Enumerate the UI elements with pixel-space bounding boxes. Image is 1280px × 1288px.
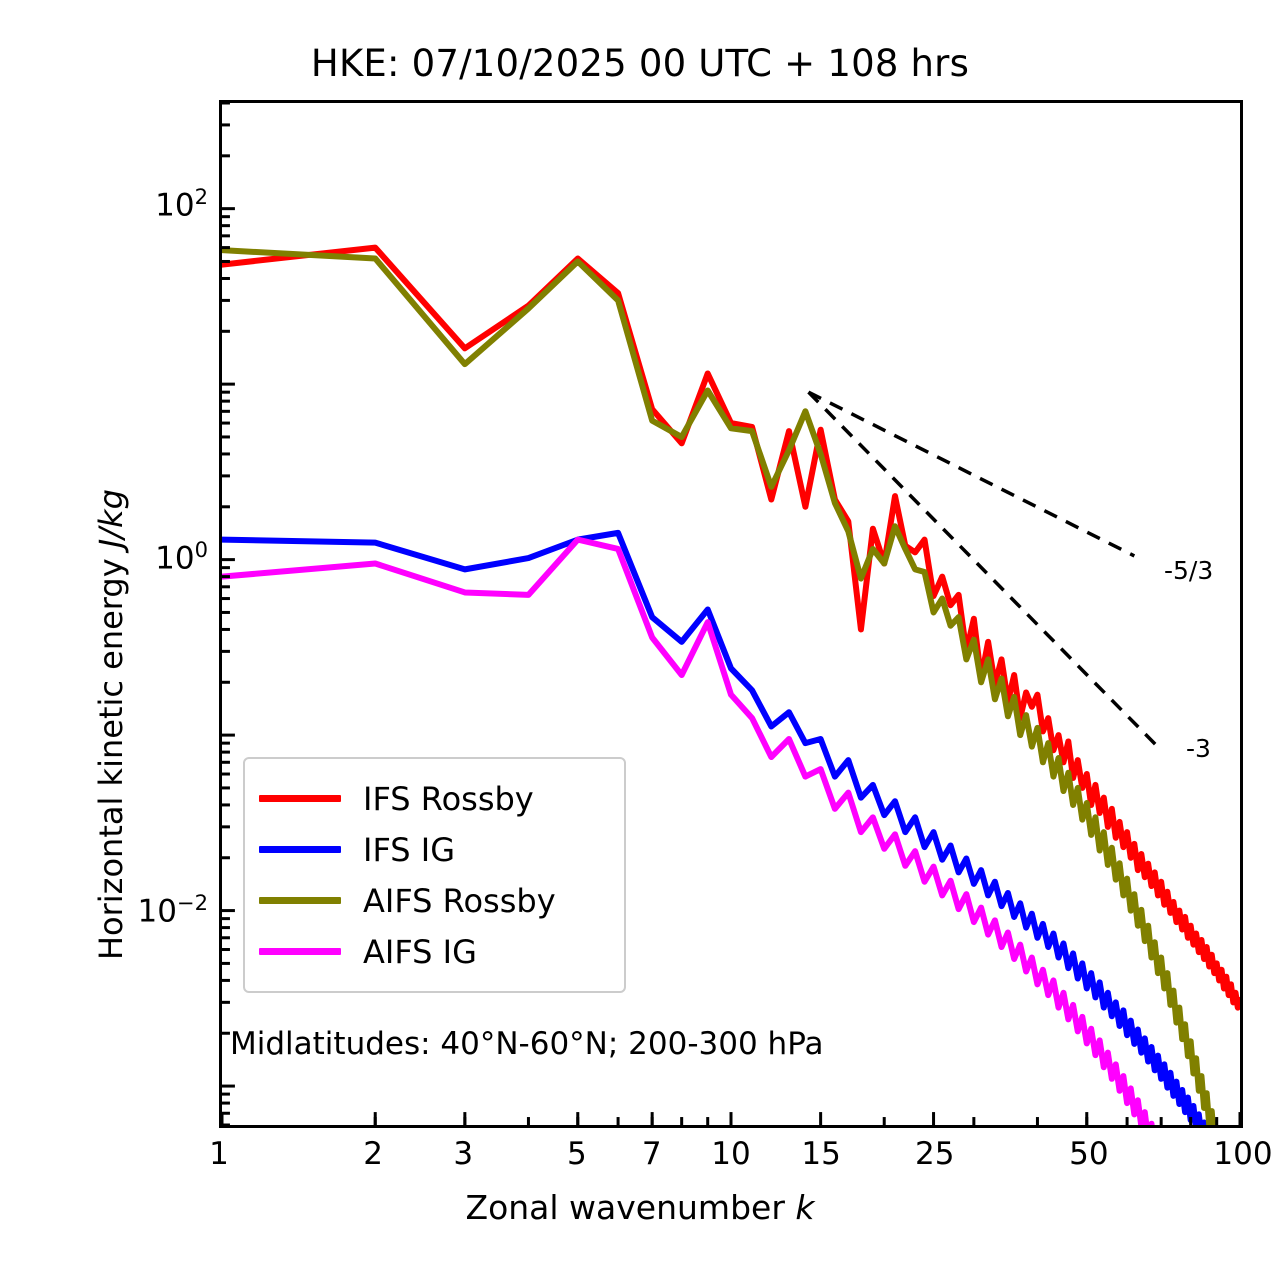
x-tick-label-2: 2 <box>363 1136 383 1172</box>
x-axis-title-main: Zonal wavenumber <box>465 1188 795 1227</box>
legend-swatch-ifs-ig <box>259 846 341 853</box>
x-axis-ticks: 1235710152550100 <box>0 1136 1280 1196</box>
x-tick-label-3: 3 <box>453 1136 473 1172</box>
chart-root: HKE: 07/10/2025 00 UTC + 108 hrs 1021001… <box>0 0 1280 1288</box>
legend-label-ifs-rossby: IFS Rossby <box>363 783 534 815</box>
x-tick-label-5: 5 <box>567 1136 587 1172</box>
x-axis-title: Zonal wavenumber k <box>0 1188 1280 1227</box>
y-tick-label-2: 10−2 <box>98 890 208 929</box>
y-tick-label-0: 102 <box>98 184 208 223</box>
x-tick-label-25: 25 <box>915 1136 954 1172</box>
legend-item-aifs-ig[interactable]: AIFS IG <box>259 926 608 977</box>
legend-item-ifs-rossby[interactable]: IFS Rossby <box>259 773 608 824</box>
x-tick-label-7: 7 <box>642 1136 662 1172</box>
legend-label-aifs-ig: AIFS IG <box>363 936 477 968</box>
x-tick-label-1: 1 <box>209 1136 229 1172</box>
legend-item-ifs-ig[interactable]: IFS IG <box>259 824 608 875</box>
y-axis-ticks: 10210010−2 <box>80 0 208 1288</box>
legend-swatch-aifs-rossby <box>259 897 341 904</box>
legend-swatch-ifs-rossby <box>259 795 341 802</box>
x-tick-label-15: 15 <box>801 1136 840 1172</box>
slope-label--5-3: -5/3 <box>1164 556 1213 585</box>
x-axis-title-symbol: k <box>795 1188 814 1227</box>
legend-label-ifs-ig: IFS IG <box>363 834 455 866</box>
legend-item-aifs-rossby[interactable]: AIFS Rossby <box>259 875 608 926</box>
y-tick-label-1: 100 <box>98 537 208 576</box>
slope-label--3: -3 <box>1186 734 1211 763</box>
x-tick-label-50: 50 <box>1069 1136 1108 1172</box>
legend-label-aifs-rossby: AIFS Rossby <box>363 885 556 917</box>
region-annotation: Midlatitudes: 40°N-60°N; 200-300 hPa <box>230 1026 824 1062</box>
slope-reference--5-3 <box>809 392 1135 556</box>
x-tick-label-10: 10 <box>711 1136 750 1172</box>
legend[interactable]: IFS Rossby IFS IG AIFS Rossby AIFS IG <box>243 757 626 993</box>
x-tick-label-100: 100 <box>1213 1136 1272 1172</box>
legend-swatch-aifs-ig <box>259 948 341 955</box>
